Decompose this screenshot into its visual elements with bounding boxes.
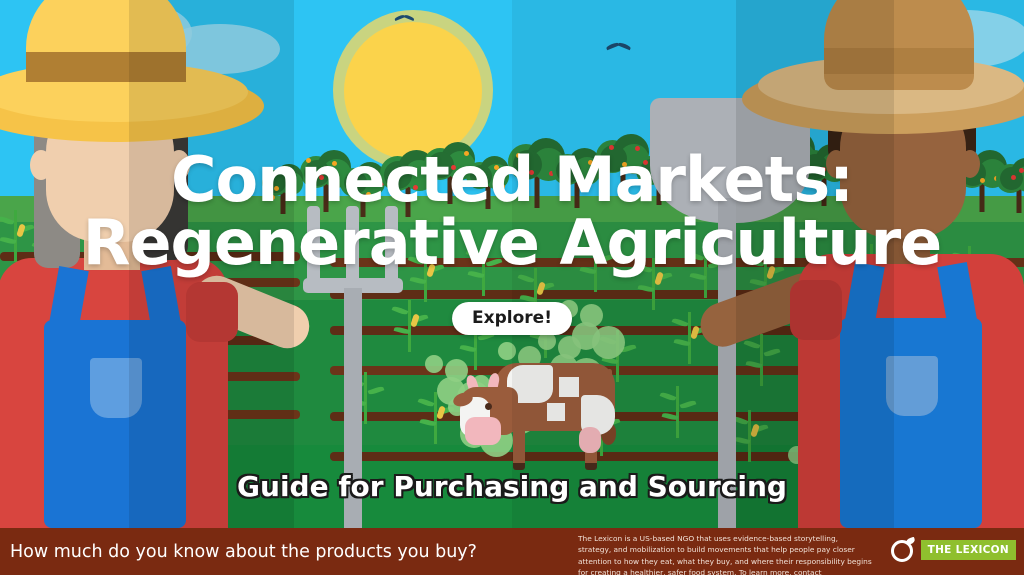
lexicon-logo[interactable]: THE LEXICON: [890, 537, 1016, 563]
hero-text-overlay: Connected Markets: Regenerative Agricult…: [0, 0, 1024, 528]
footer-headline: How much do you know about the products …: [0, 542, 477, 562]
explore-button[interactable]: Explore!: [452, 302, 572, 335]
title-line-2: Regenerative Agriculture: [0, 211, 1024, 274]
page-title: Connected Markets: Regenerative Agricult…: [0, 148, 1024, 274]
logo-leaf: [905, 537, 915, 545]
footer-bar: How much do you know about the products …: [0, 528, 1024, 575]
logo-wordmark: THE LEXICON: [921, 540, 1016, 560]
slide-root: Connected Markets: Regenerative Agricult…: [0, 0, 1024, 575]
page-subtitle: Guide for Purchasing and Sourcing: [0, 470, 1024, 503]
title-line-1: Connected Markets:: [171, 143, 853, 216]
apple-logo-icon: [890, 537, 916, 563]
footer-about-text: The Lexicon is a US-based NGO that uses …: [578, 533, 873, 575]
